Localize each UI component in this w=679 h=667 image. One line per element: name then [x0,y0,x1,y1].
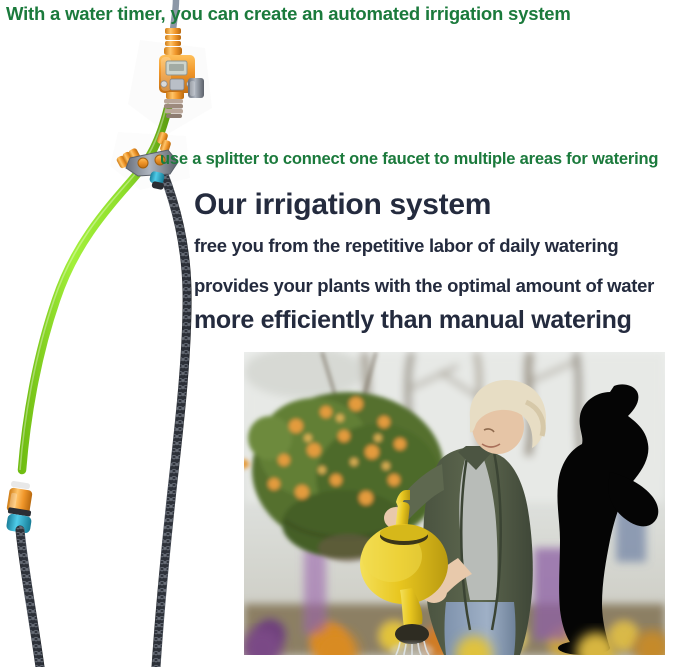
headline-water-timer: With a water timer, you can create an au… [6,3,571,25]
benefit-line-2: provides your plants with the optimal am… [194,275,654,297]
headline-splitter: use a splitter to connect one faucet to … [160,150,658,169]
page-title: Our irrigation system [194,188,491,222]
timer-inlet-collar [164,28,182,55]
gardener-watering-photo [244,352,665,655]
benefit-line-3: more efficiently than manual watering [194,306,632,335]
timer-outlet-neck [166,92,184,99]
timer-button-left [161,81,167,87]
watering-can-rose [395,624,429,644]
gardener-head [470,380,546,454]
promo-image-root: With a water timer, you can create an au… [0,0,679,667]
timer-outlet-ribbed-hose [164,99,183,118]
benefit-line-1: free you from the repetitive labor of da… [194,235,618,257]
splitter-valve-a [138,158,148,168]
timer-dial [170,79,184,90]
